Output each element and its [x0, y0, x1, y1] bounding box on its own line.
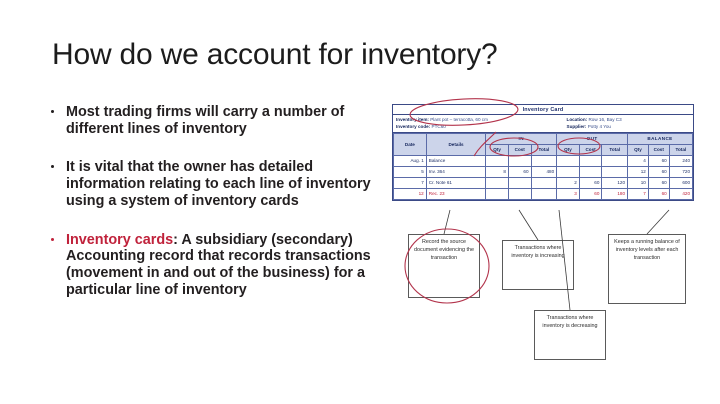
th-in-qty: Qty — [486, 145, 509, 156]
cell-bal-cost: 60 — [648, 178, 669, 189]
cell-in-total — [531, 156, 557, 167]
cell-in-qty — [486, 156, 509, 167]
page-title: How do we account for inventory? — [52, 38, 498, 72]
bullet-marker-icon — [51, 165, 54, 168]
cell-out-cost: 60 — [579, 189, 602, 200]
th-bal-cost: Cost — [648, 145, 669, 156]
th-out-total: Total — [602, 145, 628, 156]
cell-details: Rec. 23 — [426, 189, 486, 200]
inventory-table-body: Aug. 1Balance4602405Inv. 364860480126072… — [394, 156, 693, 200]
cell-in-cost: 60 — [508, 167, 531, 178]
inventory-table: Date Details IN OUT BALANCE Qty Cost Tot… — [393, 133, 693, 200]
cell-out-total: 180 — [602, 189, 628, 200]
table-row: 5Inv. 3648604801260720 — [394, 167, 693, 178]
meta-supplier-value: Potty 4 You — [588, 124, 611, 129]
th-in-total: Total — [531, 145, 557, 156]
cell-bal-cost: 60 — [648, 156, 669, 167]
slide-canvas: How do we account for inventory? Most tr… — [0, 0, 720, 404]
inventory-card-title: Inventory Card — [393, 105, 693, 114]
th-date: Date — [394, 134, 427, 156]
table-row: Aug. 1Balance460240 — [394, 156, 693, 167]
table-row: 12Rec. 23360180760420 — [394, 189, 693, 200]
cell-bal-cost: 60 — [648, 167, 669, 178]
callout-source-document: Record the source document evidencing th… — [408, 234, 480, 298]
inventory-card-diagram: Inventory Card Inventory item: Plant pot… — [392, 94, 700, 376]
cell-in-cost — [508, 178, 531, 189]
leader-line-in — [519, 210, 538, 240]
cell-in-total — [531, 189, 557, 200]
cell-out-qty — [557, 167, 580, 178]
cell-out-qty: 2 — [557, 178, 580, 189]
cell-bal-qty: 4 — [628, 156, 649, 167]
cell-date: Aug. 1 — [394, 156, 427, 167]
cell-bal-total: 420 — [669, 189, 692, 200]
cell-out-total — [602, 167, 628, 178]
callout-inventory-decreasing: Transactions where inventory is decreasi… — [534, 310, 606, 360]
leader-line-balance — [647, 210, 669, 234]
meta-supplier-key: Supplier: — [567, 124, 587, 129]
bullet-lead-3: Inventory cards — [66, 232, 173, 248]
inventory-card-meta: Inventory item: Plant pot – terracotta, … — [393, 114, 693, 134]
meta-code: Inventory code: PTC60 — [396, 123, 567, 130]
cell-details: Balance — [426, 156, 486, 167]
cell-in-total — [531, 178, 557, 189]
bullet-text-1: Most trading firms will carry a number o… — [66, 104, 344, 137]
th-bal-total: Total — [669, 145, 692, 156]
cell-date: 12 — [394, 189, 427, 200]
meta-item: Inventory item: Plant pot – terracotta, … — [396, 116, 567, 123]
cell-bal-total: 720 — [669, 167, 692, 178]
cell-in-qty — [486, 189, 509, 200]
meta-supplier: Supplier: Potty 4 You — [567, 123, 690, 130]
cell-in-total: 480 — [531, 167, 557, 178]
th-bal-qty: Qty — [628, 145, 649, 156]
meta-location-value: Row 16, Bay C3 — [588, 117, 621, 122]
cell-details: Cr. Note 61 — [426, 178, 486, 189]
meta-location-key: Location: — [567, 117, 588, 122]
cell-out-total — [602, 156, 628, 167]
cell-out-cost — [579, 167, 602, 178]
th-group-balance: BALANCE — [628, 134, 693, 145]
callout-running-balance: Keeps a running balance of inventory lev… — [608, 234, 686, 304]
cell-date: 5 — [394, 167, 427, 178]
cell-bal-qty: 7 — [628, 189, 649, 200]
cell-bal-total: 240 — [669, 156, 692, 167]
cell-in-qty: 8 — [486, 167, 509, 178]
bullet-list: Most trading firms will carry a number o… — [48, 104, 388, 298]
leader-line-source — [444, 210, 450, 234]
meta-row-item: Inventory item: Plant pot – terracotta, … — [396, 116, 690, 123]
bullet-marker-icon — [51, 110, 54, 113]
cell-in-cost — [508, 156, 531, 167]
callout-inventory-increasing: Transactions where inventory is increasi… — [502, 240, 574, 290]
bullet-text-2: It is vital that the owner has detailed … — [66, 159, 371, 208]
meta-item-value: Plant pot – terracotta, 60 cm — [430, 117, 488, 122]
th-group-in: IN — [486, 134, 557, 145]
cell-out-cost: 60 — [579, 178, 602, 189]
th-group-out: OUT — [557, 134, 628, 145]
cell-bal-cost: 60 — [648, 189, 669, 200]
table-group-header-row: Date Details IN OUT BALANCE — [394, 134, 693, 145]
meta-code-value: PTC60 — [432, 124, 446, 129]
cell-in-cost — [508, 189, 531, 200]
cell-details: Inv. 364 — [426, 167, 486, 178]
cell-in-qty — [486, 178, 509, 189]
cell-out-cost — [579, 156, 602, 167]
cell-date: 7 — [394, 178, 427, 189]
bullet-item-3: Inventory cards: A subsidiary (secondary… — [48, 232, 388, 299]
bullet-item-2: It is vital that the owner has detailed … — [48, 159, 388, 209]
meta-item-key: Inventory item: — [396, 117, 429, 122]
bullet-marker-icon — [51, 238, 54, 241]
th-details: Details — [426, 134, 486, 156]
cell-out-qty: 3 — [557, 189, 580, 200]
meta-location: Location: Row 16, Bay C3 — [567, 116, 690, 123]
inventory-table-head: Date Details IN OUT BALANCE Qty Cost Tot… — [394, 134, 693, 156]
table-row: 7Cr. Note 612601201060600 — [394, 178, 693, 189]
meta-row-code: Inventory code: PTC60 Supplier: Potty 4 … — [396, 123, 690, 130]
th-out-qty: Qty — [557, 145, 580, 156]
th-out-cost: Cost — [579, 145, 602, 156]
meta-code-key: Inventory code: — [396, 124, 430, 129]
cell-bal-total: 600 — [669, 178, 692, 189]
inventory-card: Inventory Card Inventory item: Plant pot… — [392, 104, 694, 201]
cell-bal-qty: 12 — [628, 167, 649, 178]
cell-bal-qty: 10 — [628, 178, 649, 189]
cell-out-qty — [557, 156, 580, 167]
bullet-item-1: Most trading firms will carry a number o… — [48, 104, 388, 137]
cell-out-total: 120 — [602, 178, 628, 189]
th-in-cost: Cost — [508, 145, 531, 156]
